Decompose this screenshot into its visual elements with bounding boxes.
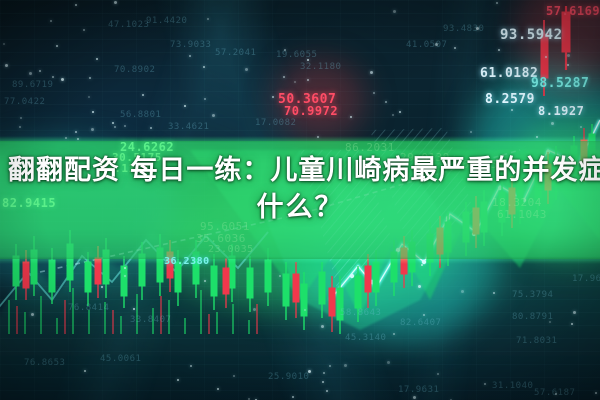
thumbnail-image: 93.594261.018298.52878.25798.192750.3607… xyxy=(0,0,600,400)
headline: 翻翻配资 每日一练：儿童川崎病最严重的并发症是 什么？ xyxy=(0,152,600,226)
headline-line-1: 翻翻配资 每日一练：儿童川崎病最严重的并发症是 xyxy=(8,152,592,189)
headline-line-2: 什么？ xyxy=(8,189,592,226)
